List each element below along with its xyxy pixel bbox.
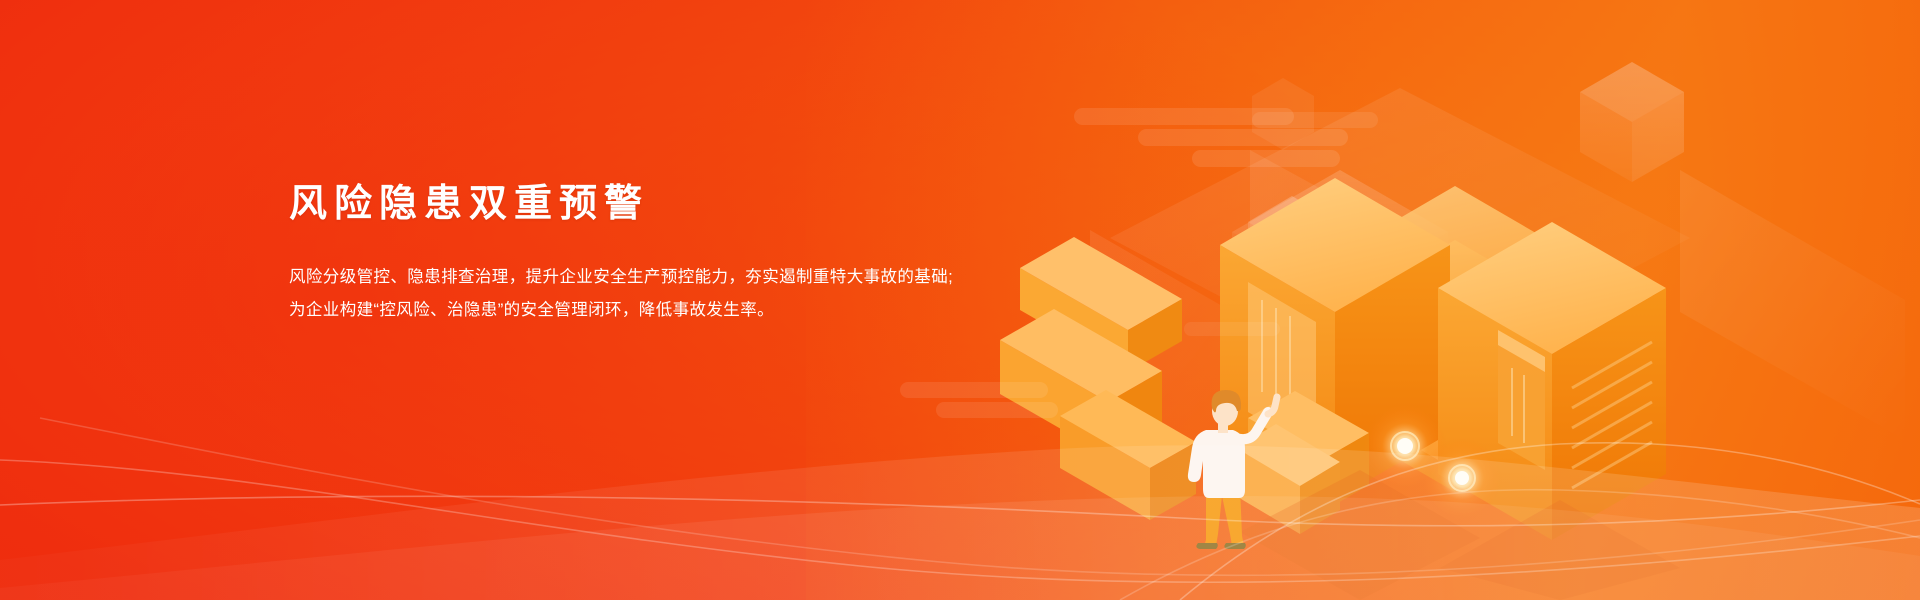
subtitle-line-2: 为企业构建“控风险、治隐患”的安全管理闭环，降低事故发生率。 (289, 294, 1029, 327)
hero-subtitle: 风险分级管控、隐患排查治理，提升企业安全生产预控能力，夯实遏制重特大事故的基础;… (289, 261, 1029, 327)
hero-copy: 风险隐患双重预警 风险分级管控、隐患排查治理，提升企业安全生产预控能力，夯实遏制… (289, 178, 1029, 327)
hero-banner: 风险隐患双重预警 风险分级管控、隐患排查治理，提升企业安全生产预控能力，夯实遏制… (0, 0, 1920, 600)
subtitle-line-1: 风险分级管控、隐患排查治理，提升企业安全生产预控能力，夯实遏制重特大事故的基础; (289, 261, 1029, 294)
page-title: 风险隐患双重预警 (289, 178, 1029, 230)
